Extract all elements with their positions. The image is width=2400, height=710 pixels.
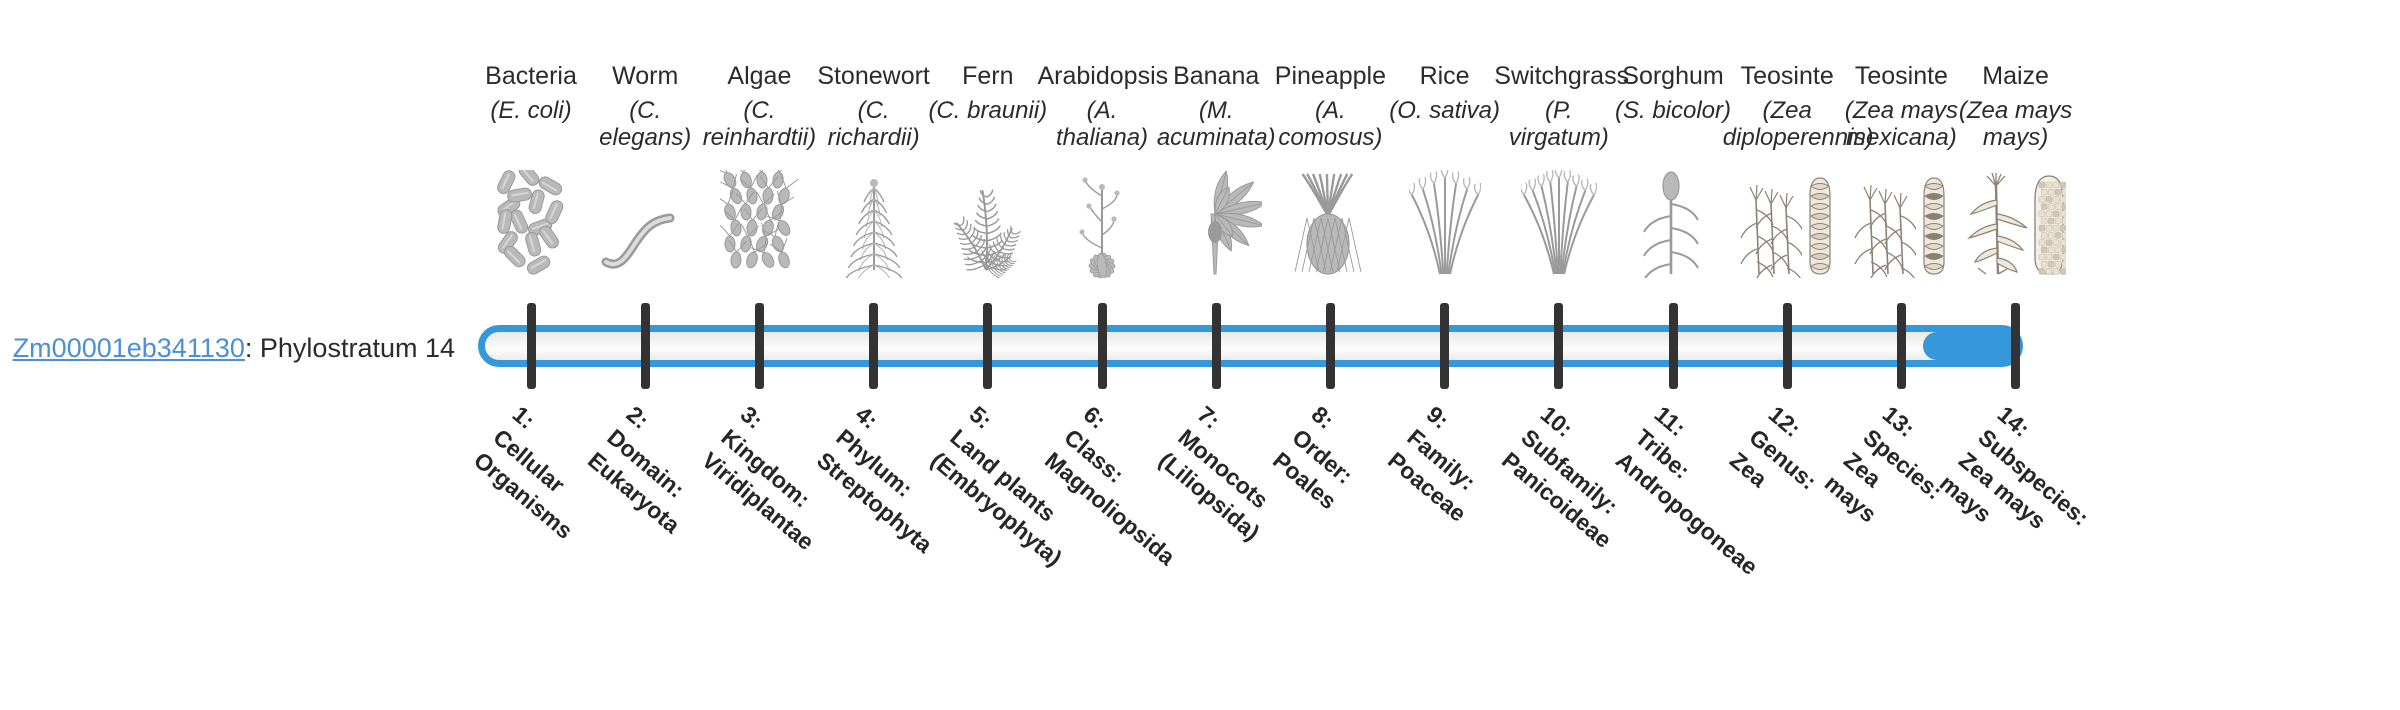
phylostratum-tick	[641, 303, 650, 389]
phylostratum-tick	[1212, 303, 1221, 389]
species-common-name: Teosinte	[1723, 62, 1852, 91]
gene-id-link[interactable]: Zm00001eb341130	[13, 333, 245, 363]
sorghum-icon	[1609, 168, 1738, 278]
phylostratum-tick	[527, 303, 536, 389]
species-column: Algae(C. reinhardtii)	[695, 0, 824, 300]
species-column: Switchgrass(P. virgatum)	[1494, 0, 1623, 300]
phylostratum-tick	[2011, 303, 2020, 389]
species-common-name: Sorghum	[1609, 62, 1738, 91]
species-common-name: Pineapple	[1266, 62, 1395, 91]
species-common-name: Fern	[923, 62, 1052, 91]
stonewort-icon	[809, 168, 938, 278]
phylostratum-tick	[1897, 303, 1906, 389]
rice-icon	[1380, 168, 1509, 278]
banana-icon	[1152, 168, 1281, 278]
species-column: Teosinte(Zea mays mexicana)	[1837, 0, 1966, 300]
phylostratum-tick	[1326, 303, 1335, 389]
species-scientific-name: (C. elegans)	[581, 98, 710, 152]
species-column: Arabidopsis(A. thaliana)	[1038, 0, 1167, 300]
species-column: Pineapple(A. comosus)	[1266, 0, 1395, 300]
species-common-name: Worm	[581, 62, 710, 91]
species-scientific-name: (E. coli)	[467, 98, 596, 125]
species-scientific-name: (A. comosus)	[1266, 98, 1395, 152]
species-scientific-name: (Zea mays mays)	[1951, 98, 2080, 152]
species-common-name: Bacteria	[467, 62, 596, 91]
species-column: Bacteria(E. coli)	[467, 0, 596, 300]
species-common-name: Teosinte	[1837, 62, 1966, 91]
pineapple-icon	[1266, 168, 1395, 278]
phylostratum-tick	[1783, 303, 1792, 389]
species-common-name: Switchgrass	[1494, 62, 1623, 91]
phylostratum-tick	[1440, 303, 1449, 389]
phylostratum-fill	[1923, 332, 2022, 360]
phylostratum-tick	[1669, 303, 1678, 389]
phylostratum-tick	[983, 303, 992, 389]
species-column: Worm(C. elegans)	[581, 0, 710, 300]
species-column: Fern(C. braunii)	[923, 0, 1052, 300]
species-scientific-name: (C. reinhardtii)	[695, 98, 824, 152]
species-column: Sorghum(S. bicolor)	[1609, 0, 1738, 300]
teosinte-mexicana-icon	[1837, 168, 1966, 278]
species-scientific-name: (S. bicolor)	[1609, 98, 1738, 125]
phylostratigraphy-figure: Zm00001eb341130: Phylostratum 14 Bacteri…	[0, 0, 2400, 580]
phylostratum-tick	[869, 303, 878, 389]
species-common-name: Algae	[695, 62, 824, 91]
species-scientific-name: (P. virgatum)	[1494, 98, 1623, 152]
gene-phylostratum-label: Zm00001eb341130: Phylostratum 14	[0, 332, 455, 364]
bacteria-icon	[467, 168, 596, 278]
species-scientific-name: (M. acuminata)	[1152, 98, 1281, 152]
fern-icon	[923, 168, 1052, 278]
species-column: Teosinte(Zea diploperennis)	[1723, 0, 1852, 300]
species-common-name: Stonewort	[809, 62, 938, 91]
species-scientific-name: (C. richardii)	[809, 98, 938, 152]
species-scientific-name: (Zea diploperennis)	[1723, 98, 1852, 152]
phylostratum-tick	[755, 303, 764, 389]
species-common-name: Arabidopsis	[1038, 62, 1167, 91]
species-common-name: Maize	[1951, 62, 2080, 91]
teosinte-diploperennis-icon	[1723, 168, 1852, 278]
switchgrass-icon	[1494, 168, 1623, 278]
label-separator: :	[245, 333, 260, 363]
species-column: Maize(Zea mays mays)	[1951, 0, 2080, 300]
worm-icon	[581, 168, 710, 278]
phylostratum-tick	[1554, 303, 1563, 389]
phylostratum-tick	[1098, 303, 1107, 389]
species-common-name: Rice	[1380, 62, 1509, 91]
arabidopsis-icon	[1038, 168, 1167, 278]
maize-icon	[1951, 168, 2080, 278]
species-column: Banana(M. acuminata)	[1152, 0, 1281, 300]
species-scientific-name: (C. braunii)	[923, 98, 1052, 125]
species-common-name: Banana	[1152, 62, 1281, 91]
phylostratum-value: Phylostratum 14	[260, 333, 455, 363]
species-column: Stonewort(C. richardii)	[809, 0, 938, 300]
species-scientific-name: (Zea mays mexicana)	[1837, 98, 1966, 152]
species-column: Rice(O. sativa)	[1380, 0, 1509, 300]
species-scientific-name: (O. sativa)	[1380, 98, 1509, 125]
species-scientific-name: (A. thaliana)	[1038, 98, 1167, 152]
algae-icon	[695, 168, 824, 278]
